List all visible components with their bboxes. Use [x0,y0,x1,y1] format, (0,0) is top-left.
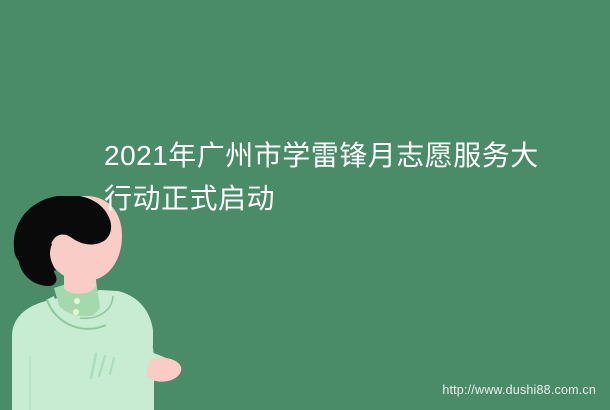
article-banner-image: 2021年广州市学雷锋月志愿服务大行动正式启动 http://www.dushi… [0,0,610,410]
source-watermark-url: http://www.dushi88.com.cn [442,382,596,398]
headline-title: 2021年广州市学雷锋月志愿服务大行动正式启动 [104,134,554,220]
